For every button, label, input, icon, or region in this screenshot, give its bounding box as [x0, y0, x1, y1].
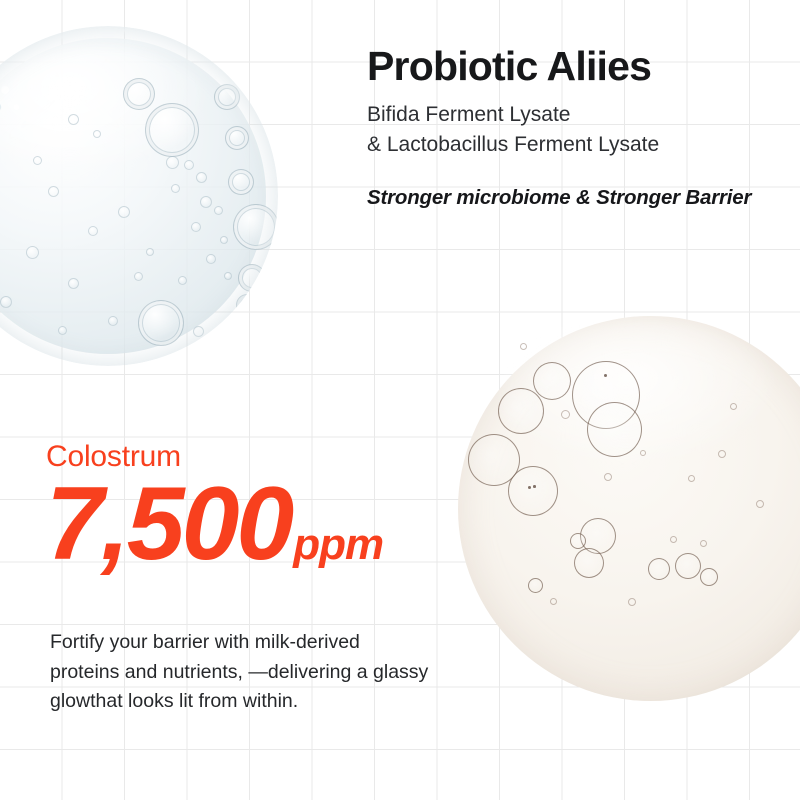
ingredient-list: Bifida Ferment Lysate & Lactobacillus Fe…	[367, 100, 787, 160]
claim-unit: ppm	[293, 524, 383, 566]
page-title: Probiotic Aliies	[367, 44, 787, 88]
ingredient-line-2: & Lactobacillus Ferment Lysate	[367, 133, 659, 156]
ingredient-line-1: Bifida Ferment Lysate	[367, 103, 570, 126]
header-text-block: Probiotic Aliies Bifida Ferment Lysate &…	[367, 44, 787, 210]
colostrum-claim-block: Colostrum 7,500 ppm	[46, 440, 476, 574]
claim-amount: 7,500	[46, 475, 291, 574]
claim-description: Fortify your barrier with milk-derived p…	[50, 628, 430, 717]
claim-figure: 7,500 ppm	[46, 475, 476, 574]
benefit-tagline: Stronger microbiome & Stronger Barrier	[367, 186, 787, 210]
product-infographic-canvas: Probiotic Aliies Bifida Ferment Lysate &…	[0, 0, 800, 800]
